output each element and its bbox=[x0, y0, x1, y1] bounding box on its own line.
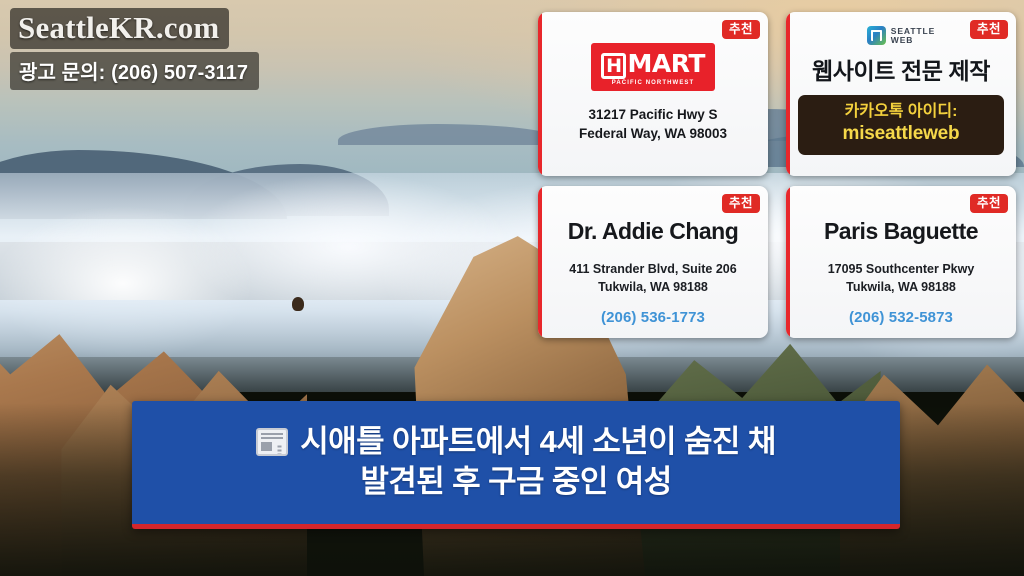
address-line-1: 31217 Pacific Hwy S bbox=[579, 105, 727, 124]
headline-line-1-row: 시애틀 아파트에서 4세 소년이 숨진 채 bbox=[256, 423, 776, 461]
kakao-label: 카카오톡 아이디: bbox=[804, 102, 998, 122]
hmart-logo: HMART PACIFIC NORTHWEST bbox=[591, 43, 715, 91]
ad-card-paris-baguette[interactable]: 추천 Paris Baguette 17095 Southcenter Pkwy… bbox=[786, 186, 1016, 338]
newspaper-icon bbox=[256, 428, 288, 456]
ad-card-addie-chang[interactable]: 추천 Dr. Addie Chang 411 Strander Blvd, Su… bbox=[538, 186, 768, 338]
recommended-badge: 추천 bbox=[970, 20, 1008, 39]
business-phone[interactable]: (206) 532-5873 bbox=[849, 309, 953, 326]
hmart-wordmark: HMART bbox=[601, 51, 705, 79]
business-name: Paris Baguette bbox=[824, 218, 978, 245]
ad-contact-phone[interactable]: 광고 문의: (206) 507-3117 bbox=[10, 52, 259, 90]
kakao-id-value: miseattleweb bbox=[804, 122, 998, 146]
brand-block: SeattleKR.com 광고 문의: (206) 507-3117 bbox=[10, 8, 259, 90]
hmart-address: 31217 Pacific Hwy S Federal Way, WA 9800… bbox=[579, 105, 727, 143]
seattleweb-wordmark: SEATTLE WEB bbox=[891, 27, 935, 44]
hmart-h-mark: H bbox=[601, 53, 626, 79]
business-phone[interactable]: (206) 536-1773 bbox=[601, 309, 705, 326]
kakao-id-box[interactable]: 카카오톡 아이디: miseattleweb bbox=[798, 95, 1004, 155]
news-headline-banner[interactable]: 시애틀 아파트에서 4세 소년이 숨진 채 발견된 후 구금 중인 여성 bbox=[132, 401, 900, 529]
seattleweb-headline: 웹사이트 전문 제작 bbox=[812, 52, 990, 86]
address-line-2: Federal Way, WA 98003 bbox=[579, 124, 727, 143]
business-address: 17095 Southcenter Pkwy Tukwila, WA 98188 bbox=[828, 260, 975, 296]
address-line-2: Tukwila, WA 98188 bbox=[569, 278, 736, 296]
seattleweb-m-icon bbox=[867, 26, 886, 45]
hmart-tagline: PACIFIC NORTHWEST bbox=[591, 80, 715, 86]
address-line-1: 17095 Southcenter Pkwy bbox=[828, 260, 975, 278]
business-address: 411 Strander Blvd, Suite 206 Tukwila, WA… bbox=[569, 260, 736, 296]
hmart-mart-text: MART bbox=[627, 49, 704, 78]
headline-line-2: 발견된 후 구금 중인 여성 bbox=[360, 463, 671, 501]
screenshot-stage: SeattleKR.com 광고 문의: (206) 507-3117 추천 H… bbox=[0, 0, 1024, 576]
recommended-badge: 추천 bbox=[722, 194, 760, 213]
ad-card-hmart[interactable]: 추천 HMART PACIFIC NORTHWEST 31217 Pacific… bbox=[538, 12, 768, 176]
ad-card-grid: 추천 HMART PACIFIC NORTHWEST 31217 Pacific… bbox=[538, 12, 1016, 338]
address-line-1: 411 Strander Blvd, Suite 206 bbox=[569, 260, 736, 278]
recommended-badge: 추천 bbox=[970, 194, 1008, 213]
site-logo[interactable]: SeattleKR.com bbox=[10, 8, 229, 49]
business-name: Dr. Addie Chang bbox=[568, 218, 739, 245]
ad-card-seattleweb[interactable]: 추천 SEATTLE WEB 웹사이트 전문 제작 카카오톡 아이디: mise… bbox=[786, 12, 1016, 176]
bird-on-peak bbox=[292, 297, 304, 311]
seattleweb-line2: WEB bbox=[891, 36, 935, 45]
seattleweb-logo: SEATTLE WEB bbox=[867, 26, 935, 45]
address-line-2: Tukwila, WA 98188 bbox=[828, 278, 975, 296]
recommended-badge: 추천 bbox=[722, 20, 760, 39]
headline-line-1: 시애틀 아파트에서 4세 소년이 숨진 채 bbox=[300, 423, 776, 461]
